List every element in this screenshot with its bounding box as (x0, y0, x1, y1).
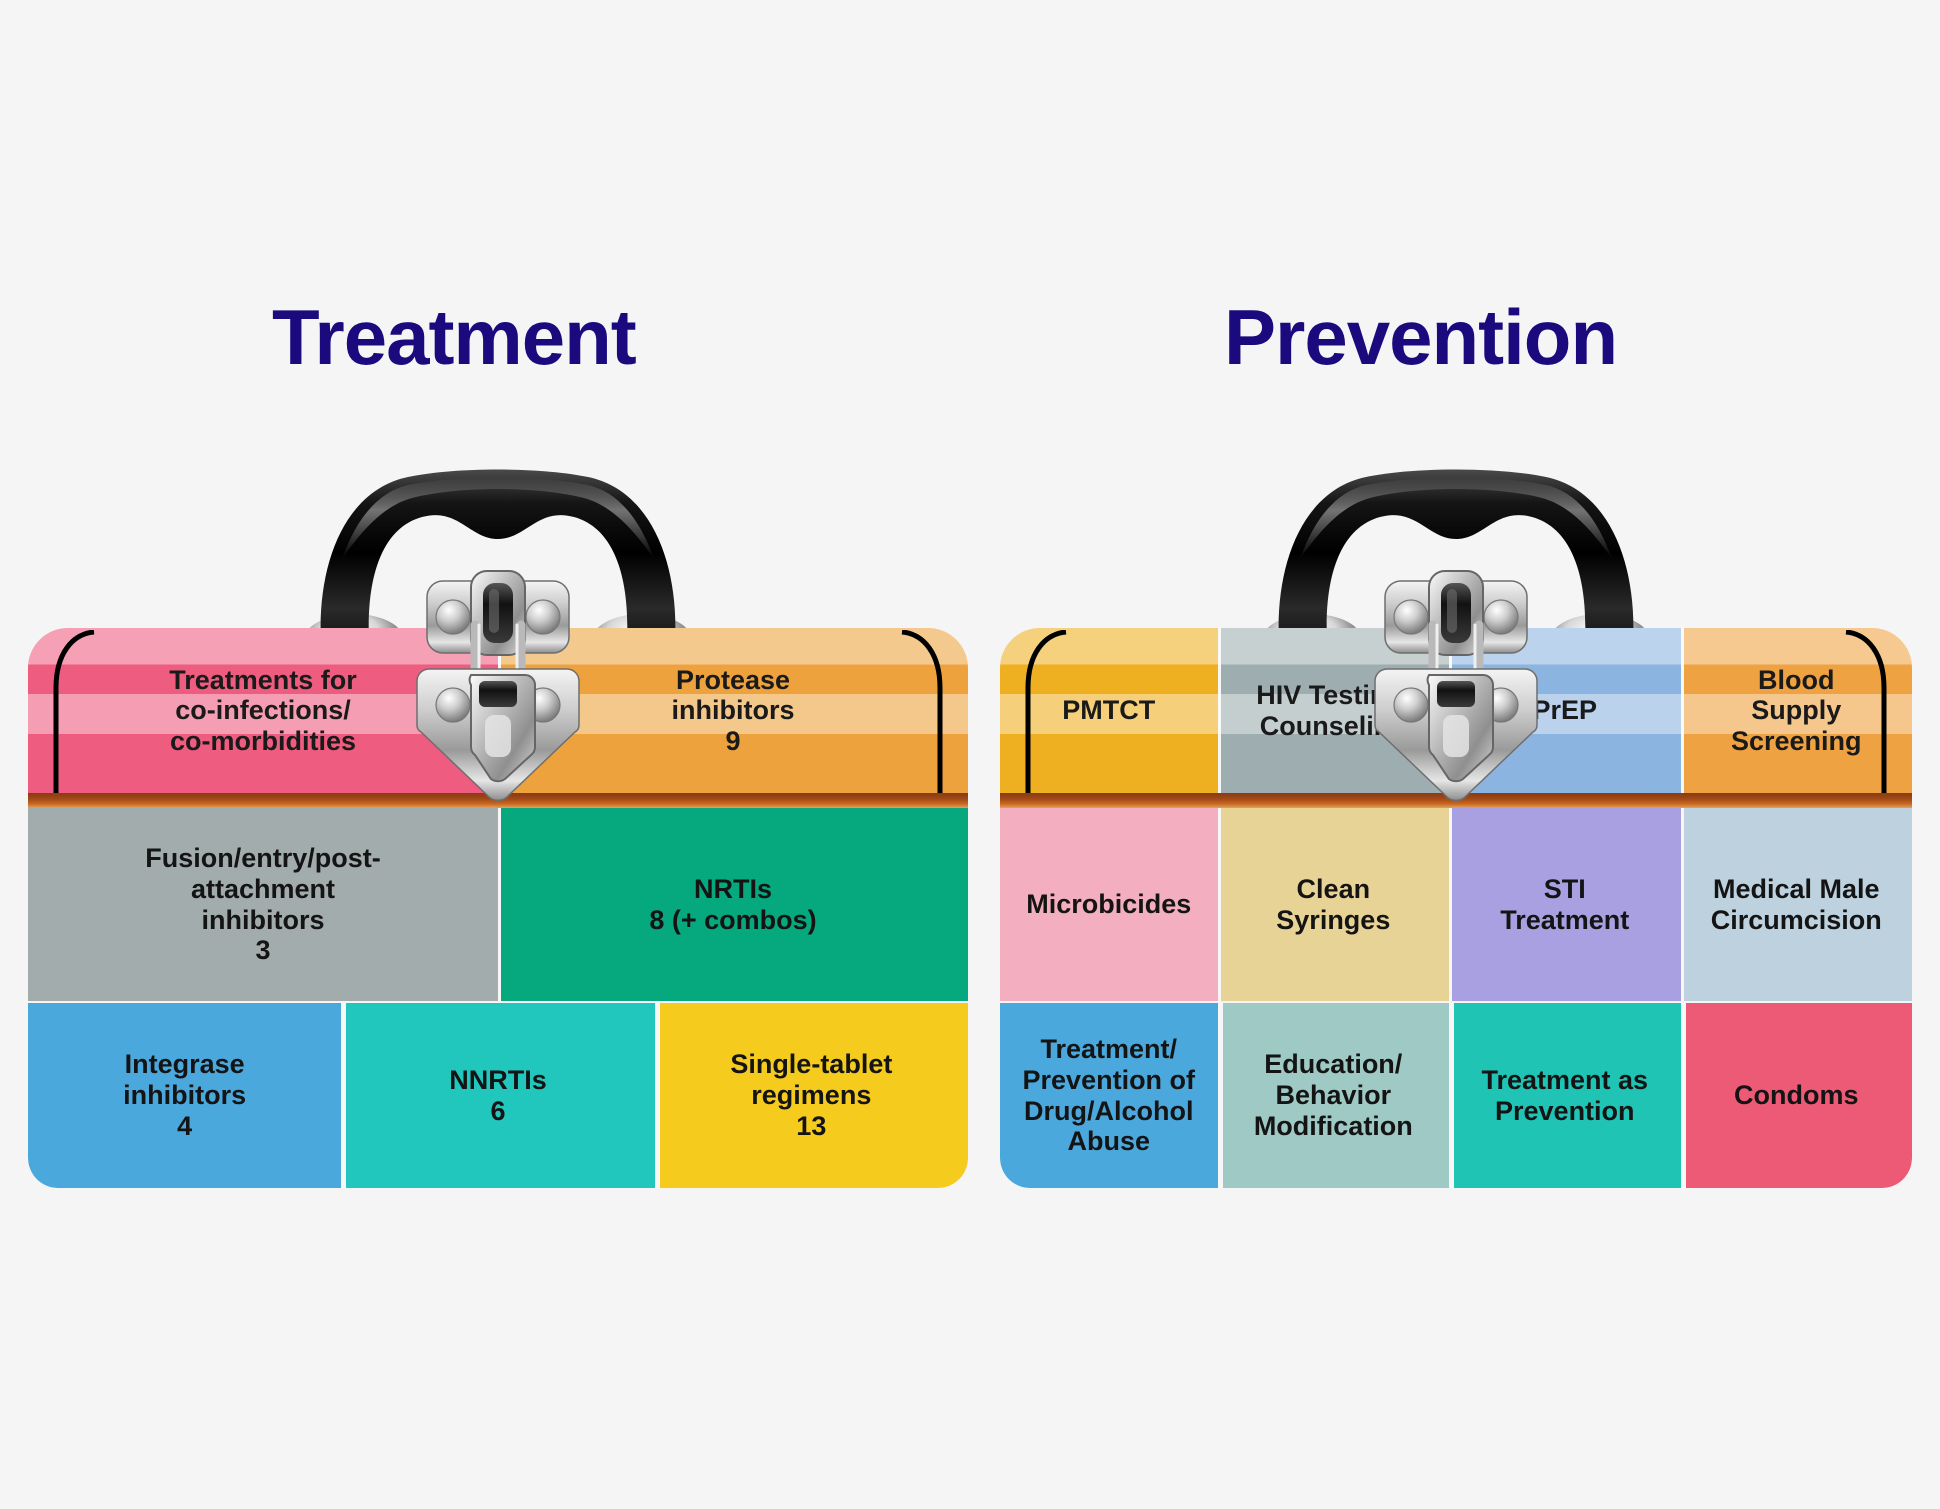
lid-cell-label: Treatments forco-infections/co-morbiditi… (159, 665, 367, 756)
toolbox-cell[interactable]: Fusion/entry/post-attachmentinhibitors3 (28, 808, 498, 1001)
toolbox-cell-label: Fusion/entry/post-attachmentinhibitors3 (137, 843, 389, 966)
toolbox-treatment: Treatments forco-infections/co-morbiditi… (28, 455, 968, 1215)
diagram-canvas: Treatment Prevention (0, 0, 1940, 1509)
toolbox-cell-label: STITreatment (1492, 874, 1637, 936)
lid-cell[interactable]: PMTCT (1000, 628, 1218, 793)
toolbox-cell-label: Treatment/Prevention ofDrug/AlcoholAbuse (1015, 1034, 1204, 1157)
lid-cell[interactable]: BloodSupplyScreening (1681, 628, 1912, 793)
lid-cell-label: BloodSupplyScreening (1721, 665, 1872, 756)
toolbox-cell-label: CleanSyringes (1268, 874, 1398, 936)
page-title-prevention: Prevention (1224, 292, 1617, 383)
lid-cell-label: PMTCT (1052, 695, 1165, 725)
toolbox-cell[interactable]: NRTIs8 (+ combos) (498, 808, 968, 1001)
toolbox-cell[interactable]: Integraseinhibitors4 (28, 1003, 341, 1188)
toolbox-cell[interactable]: Single-tabletregimens13 (655, 1003, 968, 1188)
toolbox-cell[interactable]: CleanSyringes (1218, 808, 1449, 1001)
latch-rivet-icon (526, 600, 560, 634)
toolbox-cell[interactable]: Treatment asPrevention (1449, 1003, 1680, 1188)
toolbox-row-middle-treatment: Fusion/entry/post-attachmentinhibitors3 … (28, 808, 968, 1001)
toolbox-cell[interactable]: Education/BehaviorModification (1218, 1003, 1449, 1188)
toolbox-row-bottom-prevention: Treatment/Prevention ofDrug/AlcoholAbuse… (1000, 1003, 1912, 1188)
toolbox-cell-label: Medical MaleCircumcision (1703, 874, 1890, 936)
toolbox-cell-label: Single-tabletregimens13 (722, 1049, 900, 1141)
toolbox-cell[interactable]: Condoms (1681, 1003, 1912, 1188)
toolbox-row-middle-prevention: Microbicides CleanSyringes STITreatment … (1000, 808, 1912, 1001)
latch-rivet-icon (1484, 600, 1518, 634)
toolbox-cell[interactable]: Medical MaleCircumcision (1681, 808, 1912, 1001)
toolbox-prevention: PMTCT HIV Testing/Counseling PrEP BloodS… (1000, 455, 1912, 1215)
toolbox-latch-icon[interactable] (1371, 563, 1541, 811)
lid-cell-label: Proteaseinhibitors9 (662, 665, 805, 756)
toolbox-latch-icon[interactable] (413, 563, 583, 811)
toolbox-cell-label: Treatment asPrevention (1473, 1065, 1656, 1127)
toolbox-cell[interactable]: NNRTIs6 (341, 1003, 654, 1188)
toolbox-cell[interactable]: STITreatment (1449, 808, 1680, 1001)
toolbox-cell[interactable]: Treatment/Prevention ofDrug/AlcoholAbuse (1000, 1003, 1218, 1188)
toolbox-cell-label: NNRTIs6 (441, 1065, 555, 1127)
toolbox-cell-label: Condoms (1726, 1080, 1867, 1111)
page-title-treatment: Treatment (272, 292, 636, 383)
latch-rivet-icon (436, 600, 470, 634)
toolbox-cell-label: Education/BehaviorModification (1246, 1049, 1421, 1141)
toolbox-cell-label: Microbicides (1018, 889, 1199, 920)
toolbox-row-bottom-treatment: Integraseinhibitors4 NNRTIs6 Single-tabl… (28, 1003, 968, 1188)
latch-rivet-icon (1394, 600, 1428, 634)
toolbox-cell-label: NRTIs8 (+ combos) (641, 874, 824, 936)
latch-rivet-icon (436, 688, 470, 722)
toolbox-cell[interactable]: Microbicides (1000, 808, 1218, 1001)
latch-rivet-icon (1394, 688, 1428, 722)
toolbox-cell-label: Integraseinhibitors4 (115, 1049, 254, 1141)
